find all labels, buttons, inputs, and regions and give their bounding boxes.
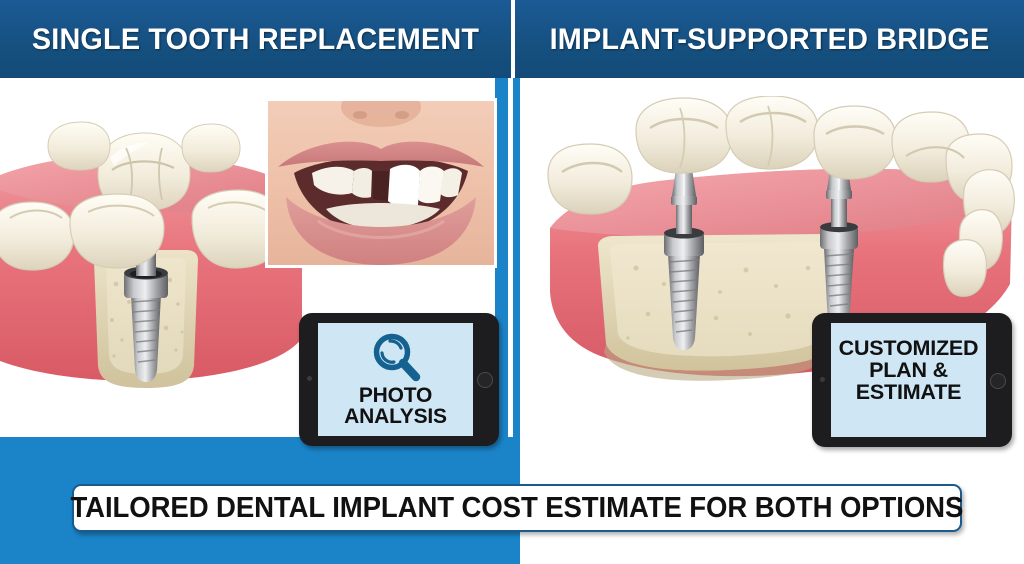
photo-analysis-tablet[interactable]: PHOTO ANALYSIS [299,313,499,446]
bottom-banner: TAILORED DENTAL IMPLANT COST ESTIMATE FO… [72,484,962,532]
customized-plan-line3: ESTIMATE [831,381,986,403]
tablet-home-button[interactable] [990,373,1006,389]
header-divider [511,0,515,78]
photo-analysis-line1: PHOTO [318,385,473,407]
customized-plan-tablet[interactable]: CUSTOMIZED PLAN & ESTIMATE [812,313,1012,447]
smile-with-missing-tooth-photo [265,98,497,268]
header-title-right: IMPLANT-SUPPORTED BRIDGE [525,20,1014,60]
header-title-left: SINGLE TOOTH REPLACEMENT [10,20,501,60]
magnifier-icon [318,331,473,388]
tablet-screen[interactable]: CUSTOMIZED PLAN & ESTIMATE [831,323,986,437]
tablet-screen[interactable]: PHOTO ANALYSIS [318,323,473,436]
dental-implant-infographic: SINGLE TOOTH REPLACEMENT IMPLANT-SUPPORT… [0,0,1024,564]
customized-plan-label: CUSTOMIZED PLAN & ESTIMATE [831,337,986,403]
tablet-camera-icon [820,377,825,382]
tablet-home-button[interactable] [477,372,493,388]
tablet-camera-icon [307,376,312,381]
photo-analysis-line2: ANALYSIS [318,406,473,428]
customized-plan-line2: PLAN & [831,359,986,381]
bottom-banner-text: TAILORED DENTAL IMPLANT COST ESTIMATE FO… [71,492,964,525]
photo-analysis-label: PHOTO ANALYSIS [318,385,473,428]
customized-plan-line1: CUSTOMIZED [831,337,986,359]
